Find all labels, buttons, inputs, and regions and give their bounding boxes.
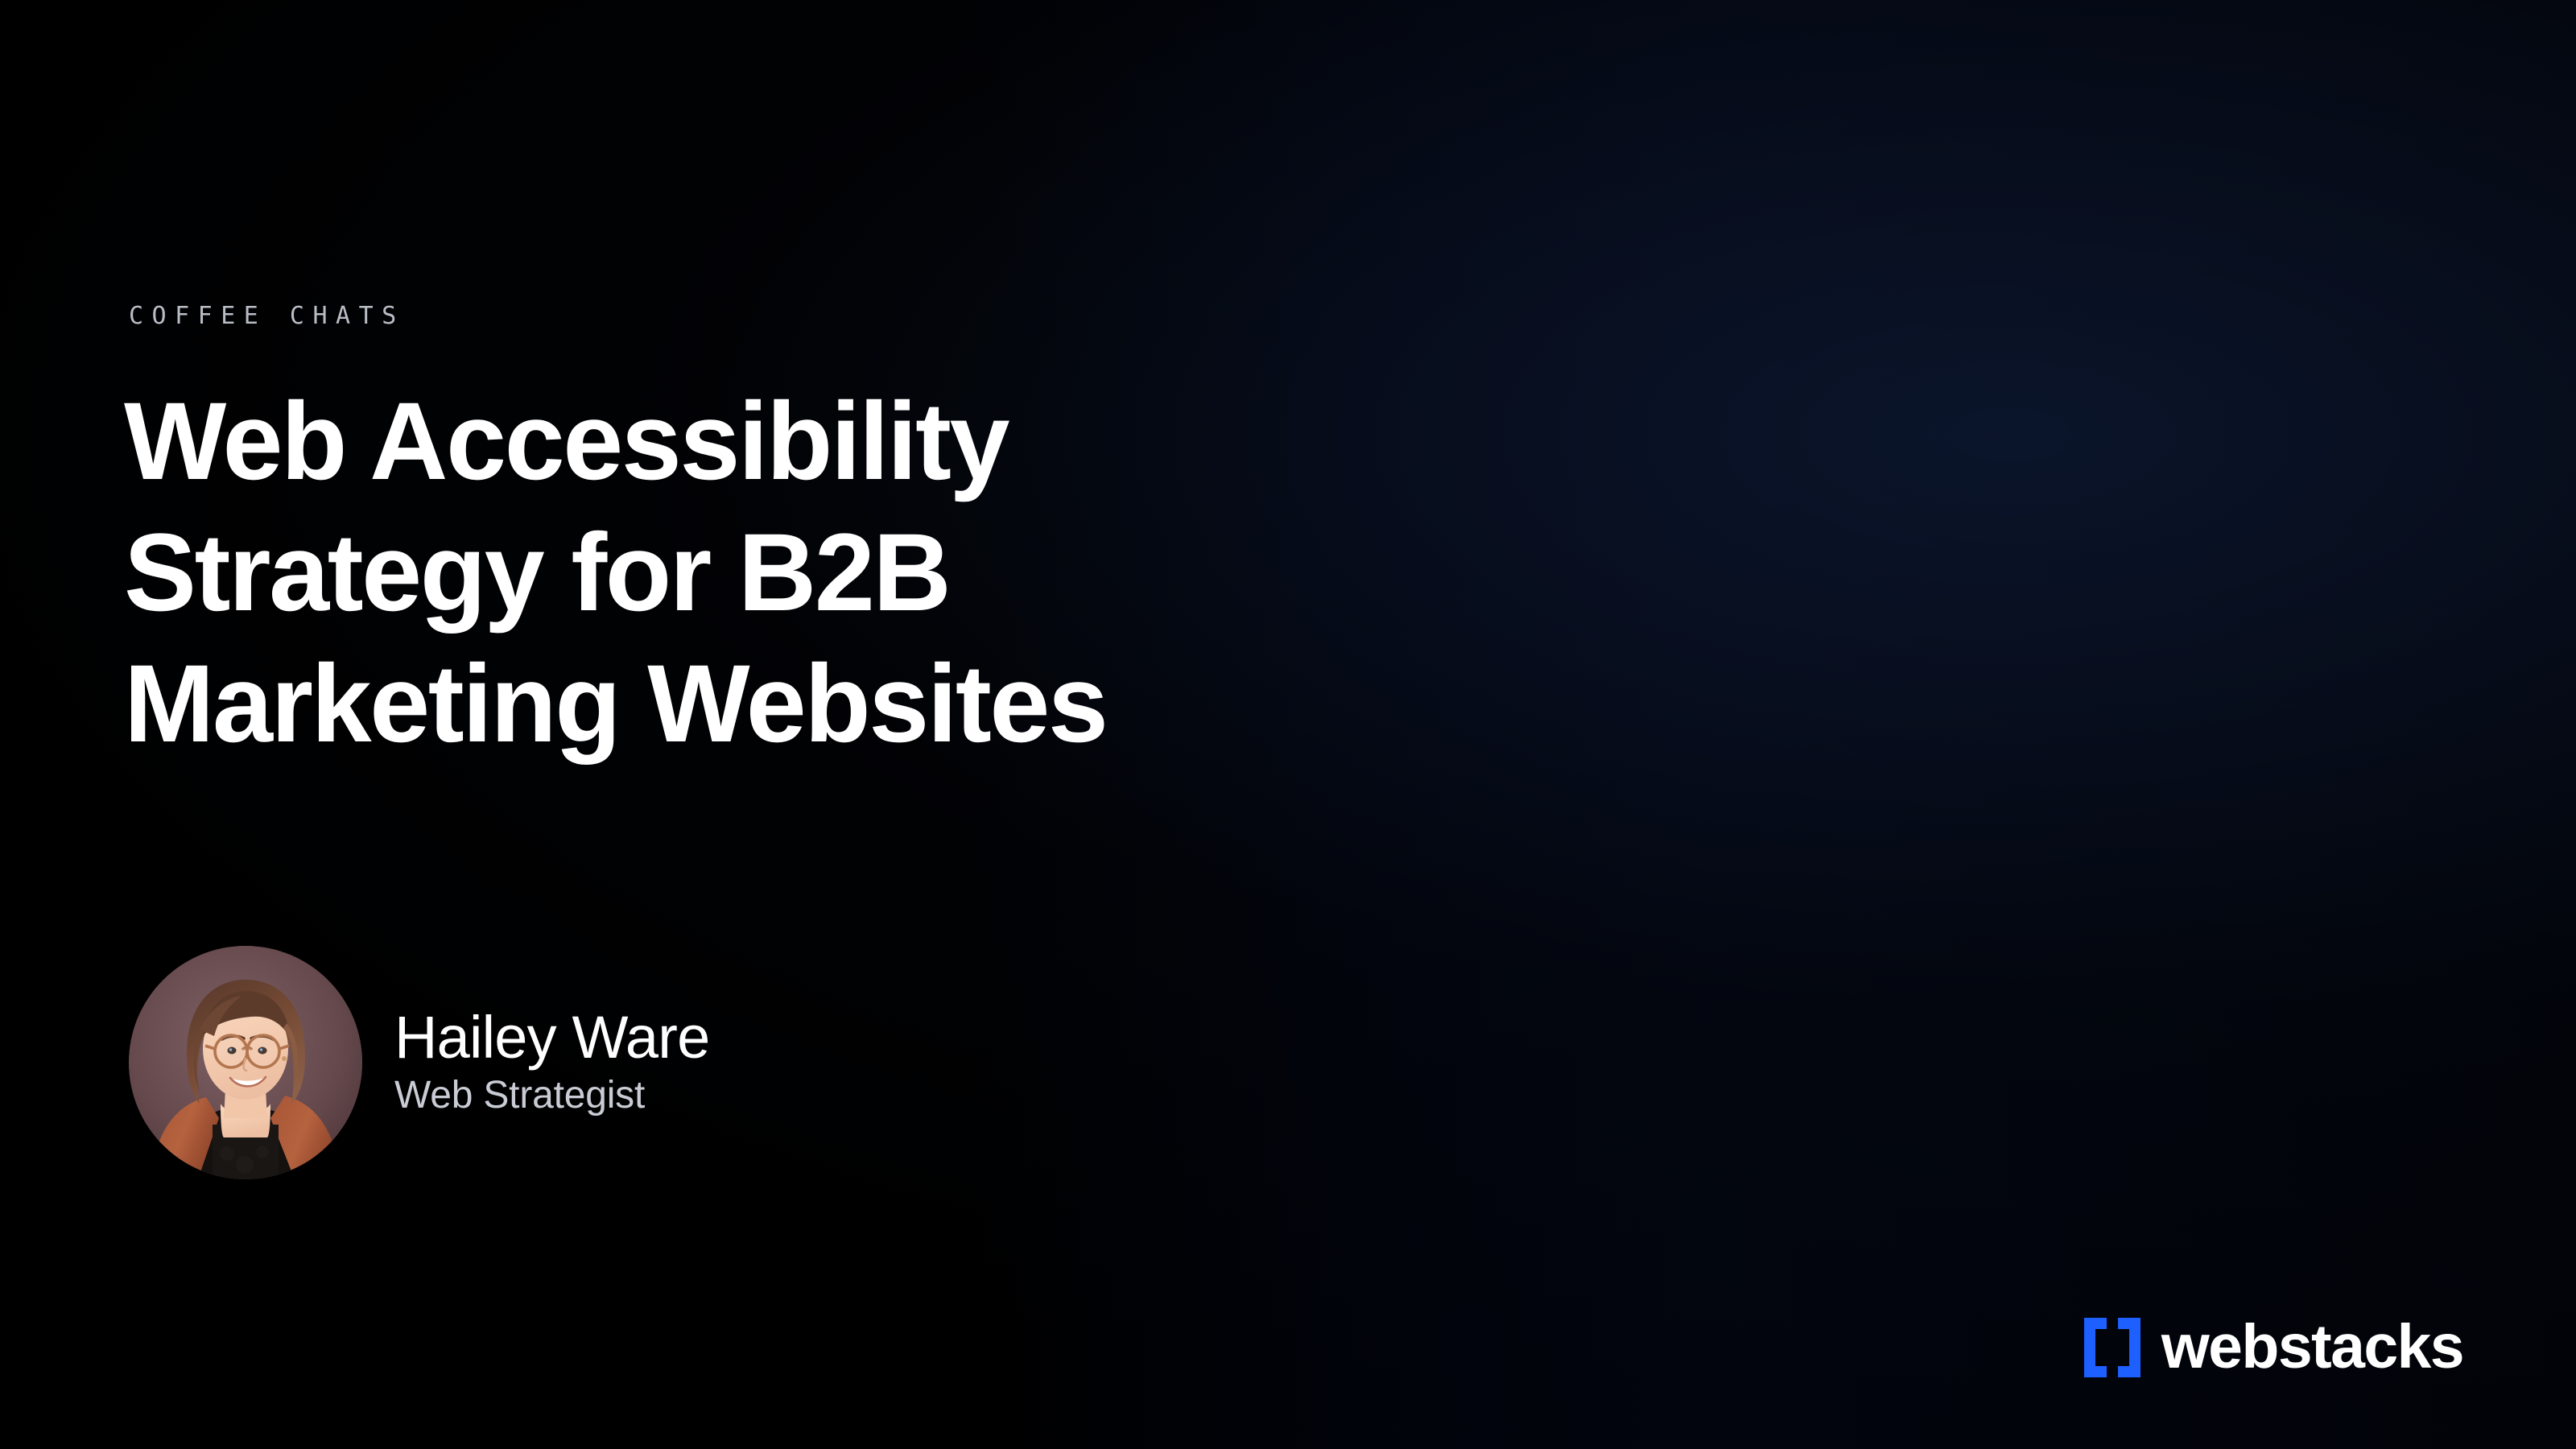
- iso-arrow-marker: [1862, 439, 1874, 463]
- slide-content: COFFEE CHATS Web Accessibility Strategy …: [129, 0, 1497, 1449]
- speaker-name: Hailey Ware: [394, 1006, 709, 1069]
- iso-faces-back: [1529, 0, 2576, 934]
- webstacks-wordmark: webstacks: [2161, 1316, 2463, 1378]
- iso-blue-dashed-lines: [1534, 52, 2576, 1449]
- webstacks-logo: webstacks: [2084, 1316, 2463, 1378]
- page-title: Web Accessibility Strategy for B2B Marke…: [124, 386, 1409, 759]
- iso-blue-lines-top: [1598, 0, 2576, 459]
- speaker-role: Web Strategist: [394, 1075, 709, 1116]
- avatar-portrait-illustration: [129, 946, 362, 1179]
- headline-line-2: Strategy for B2B: [124, 518, 1409, 628]
- avatar: [129, 946, 362, 1179]
- iso-blue-lines: [1534, 52, 2576, 910]
- square-brackets-icon: [2084, 1318, 2140, 1377]
- presentation-slide: COFFEE CHATS Web Accessibility Strategy …: [0, 0, 2576, 1449]
- speaker-text: Hailey Ware Web Strategist: [394, 1006, 709, 1119]
- eyebrow-label: COFFEE CHATS: [129, 302, 405, 330]
- iso-faces-blue: [1534, 52, 2576, 1038]
- speaker-block: Hailey Ware Web Strategist: [129, 946, 709, 1179]
- headline-line-3: Marketing Websites: [124, 649, 1409, 759]
- headline-line-1: Web Accessibility: [124, 386, 1409, 497]
